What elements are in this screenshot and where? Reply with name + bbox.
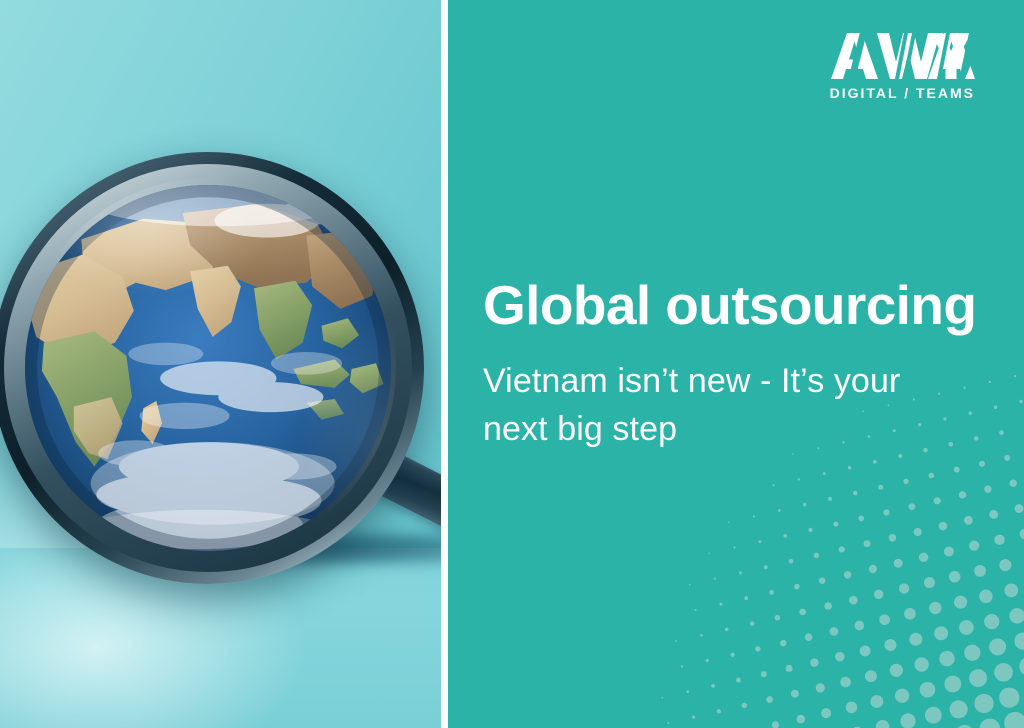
- earth-globe-icon: [25, 185, 391, 551]
- hero-image-panel: [0, 0, 441, 728]
- page-subtitle: Vietnam isn’t new - It’s your next big s…: [483, 358, 943, 453]
- magnifier-lens-inner-rim: [4, 164, 412, 572]
- panel-divider: [441, 0, 448, 728]
- away-wordmark-icon: [829, 31, 975, 81]
- presentation-slide: DIGITAL / TEAMS Global outsourcing Vietn…: [0, 0, 1024, 728]
- brand-tagline: DIGITAL / TEAMS: [829, 86, 975, 100]
- magnifier-lens-rim: [0, 152, 424, 584]
- content-panel: DIGITAL / TEAMS Global outsourcing Vietn…: [448, 0, 1024, 728]
- page-title: Global outsourcing: [483, 276, 988, 335]
- text-block: Global outsourcing Vietnam isn’t new - I…: [483, 276, 988, 454]
- brand-logo[interactable]: DIGITAL / TEAMS: [829, 31, 975, 100]
